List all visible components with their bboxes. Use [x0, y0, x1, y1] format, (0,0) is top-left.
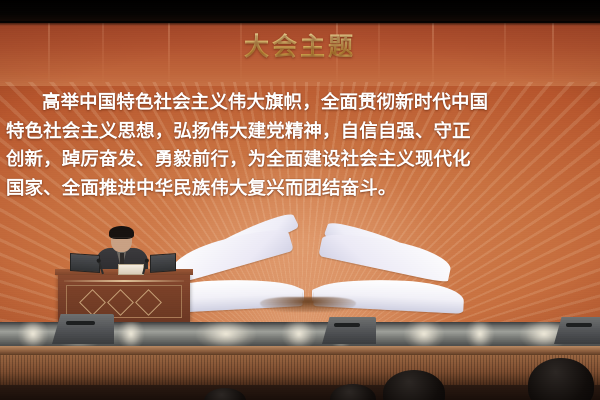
audience-head-2 — [383, 370, 445, 400]
slogan-line-3: 创新，踔厉奋发、勇毅前行，为全面建设社会主义现代化 — [6, 145, 594, 174]
podium-front-panel — [66, 285, 182, 318]
slogan-line-2: 特色社会主义思想，弘扬伟大建党精神，自信自强、守正 — [6, 117, 594, 146]
podium-group — [58, 246, 190, 324]
conference-slogan: 高举中国特色社会主义伟大旗帜，全面贯彻新时代中国 特色社会主义思想，弘扬伟大建党… — [6, 88, 594, 202]
podium-diamond-1 — [79, 289, 106, 316]
podium-diamond-3 — [135, 289, 162, 316]
audience-head-1 — [528, 358, 594, 400]
floor-monitor-center — [322, 317, 376, 344]
audience-head-3 — [330, 384, 376, 400]
conference-theme-title: 大会主题 — [0, 33, 600, 61]
glasses-icon — [112, 237, 131, 241]
audience-silhouettes — [0, 348, 600, 400]
floor-monitor-left — [52, 314, 114, 344]
open-book-graphic — [148, 222, 468, 318]
ceiling-dark-band — [0, 0, 600, 23]
laptop-left — [70, 253, 100, 273]
slogan-line-4: 国家、全面推进中华民族伟大复兴而团结奋斗。 — [6, 174, 594, 203]
book-page-flying-right-1 — [318, 227, 453, 284]
slogan-line-1: 高举中国特色社会主义伟大旗帜，全面贯彻新时代中国 — [6, 88, 594, 117]
podium-gold-trim — [64, 280, 184, 282]
audience-head-4 — [204, 388, 246, 400]
floor-monitor-right — [554, 317, 600, 344]
book-spine — [260, 297, 356, 312]
laptop-right — [150, 253, 176, 273]
podium-diamond-2 — [107, 289, 134, 316]
conference-photo: 大会主题 高举中国特色社会主义伟大旗帜，全面贯彻新时代中国 特色社会主义思想，弘… — [0, 0, 600, 400]
printed-document — [118, 264, 144, 275]
